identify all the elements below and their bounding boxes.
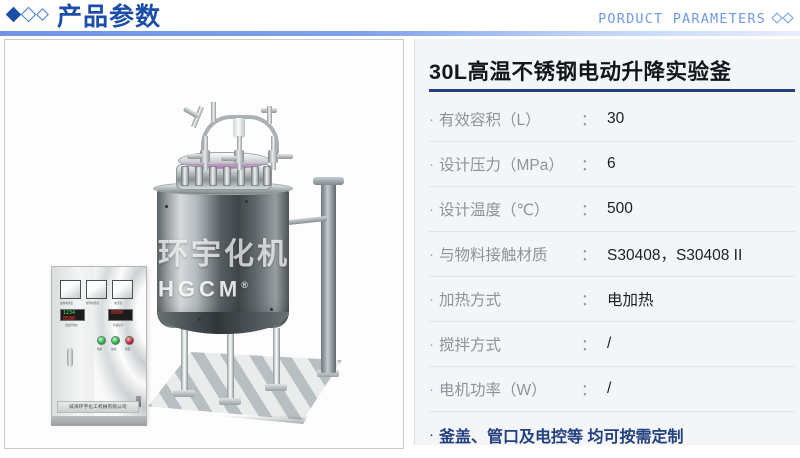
meter-label: 电压表 (114, 301, 122, 305)
spec-label: 电机功率（W） (439, 378, 581, 400)
flange-bolt (195, 166, 203, 186)
spec-value: 6 (607, 155, 795, 173)
customizable-note: 釜盖、管口及电控等 均可按需定制 (439, 423, 795, 447)
flange-bolt (251, 166, 259, 186)
valve-handle (183, 106, 199, 118)
spec-label: 与物料接触材质 (439, 243, 581, 265)
vessel-leg (227, 328, 234, 400)
spec-label: 设计温度（℃） (439, 198, 581, 220)
bullet-icon: · (429, 427, 439, 442)
bullet-icon: · (429, 157, 439, 172)
vessel-screw (165, 205, 168, 208)
vessel-leg (273, 328, 280, 386)
lamp-label: 报警 (125, 347, 130, 351)
page-title-english: PORDUCT PARAMETERS (598, 11, 766, 27)
spec-label: 加热方式 (439, 288, 581, 310)
diamond-outline-small-icon (36, 8, 49, 21)
spec-row: · 电机功率（W） ： / (429, 367, 795, 412)
flange-bolt (181, 166, 189, 186)
header-trailing-diamond-group (773, 14, 792, 22)
reactor-vessel (157, 188, 289, 328)
page-header: 产品参数 PORDUCT PARAMETERS (0, 0, 800, 34)
spec-colon: ： (581, 378, 607, 400)
lifting-column-flange (313, 177, 344, 185)
header-diamond-group (8, 9, 47, 20)
spec-value: 电加热 (607, 288, 795, 310)
meter-label: 加热电流表 (60, 301, 73, 305)
spec-row: · 搅拌方式 ： / (429, 322, 795, 367)
product-image-panel: 环宇化机 HGCM® 加热电流表 搅拌电流表 电压表 1234 0500 温度控… (4, 39, 404, 449)
spec-colon: ： (581, 108, 607, 130)
spec-row: · 设计压力（MPa） ： 6 (429, 142, 795, 187)
bullet-icon: · (429, 337, 439, 352)
spec-colon: ： (581, 333, 607, 355)
spec-row: · 有效容积（L） ： 30 (429, 97, 795, 142)
analog-meter (60, 280, 81, 299)
spec-row: · 加热方式 ： 电加热 (429, 277, 795, 322)
spec-colon: ： (581, 288, 607, 310)
display-value-bottom: 0500 (61, 316, 84, 322)
lifting-column (321, 183, 336, 373)
specification-panel: 30L高温不锈钢电动升降实验釜 · 有效容积（L） ： 30 · 设计压力（MP… (414, 39, 800, 445)
spec-value: / (607, 380, 795, 398)
diamond-outline-icon (771, 12, 782, 23)
valve-stem (267, 106, 272, 124)
page-title: 产品参数 (57, 2, 161, 32)
diamond-outline-icon (21, 7, 37, 23)
analog-meter (112, 280, 133, 299)
specification-list: · 有效容积（L） ： 30 · 设计压力（MPa） ： 6 · 设计温度（℃）… (429, 97, 795, 457)
product-name: 30L高温不锈钢电动升降实验釜 (429, 55, 732, 86)
meter-label: 搅拌电流表 (86, 301, 99, 305)
spec-label: 有效容积（L） (439, 108, 581, 130)
flange-bolt (209, 166, 217, 186)
header-divider (0, 31, 800, 36)
spec-colon: ： (581, 243, 607, 265)
spec-value: S30408，S30408 II (607, 243, 795, 265)
diamond-outline-icon (782, 12, 793, 23)
indicator-lamp (111, 336, 120, 345)
spec-value: 30 (607, 110, 795, 128)
vessel-screw (270, 308, 273, 311)
valve-handle (221, 156, 237, 161)
valve-handle (187, 154, 203, 159)
lamp-label: 加热 (111, 347, 116, 351)
vessel-leg (181, 328, 188, 392)
spec-row-customizable: · 釜盖、管口及电控等 均可按需定制 (429, 412, 795, 457)
top-cap (233, 118, 245, 138)
cabinet-nameplate-text: 威海环宇化工机械有限公司 (69, 404, 127, 410)
vessel-foot (173, 390, 195, 397)
cabinet-nameplate: 威海环宇化工机械有限公司 (57, 401, 139, 413)
spec-label: 设计压力（MPa） (439, 153, 581, 175)
vessel-screw (245, 200, 248, 203)
digital-display: 1234 0500 (60, 309, 85, 321)
diamond-solid-icon (6, 7, 22, 23)
vessel-foot (219, 398, 241, 405)
reactor-vessel-bottom (157, 312, 289, 334)
spec-label: 搅拌方式 (439, 333, 581, 355)
flange-bolt (223, 166, 231, 186)
lamp-label: 电源 (97, 347, 102, 351)
bullet-icon: · (429, 112, 439, 127)
flange-bolt (263, 166, 271, 186)
valve-stem (211, 102, 216, 122)
product-parameters-page: 产品参数 PORDUCT PARAMETERS (0, 0, 800, 458)
title-underline (429, 89, 795, 92)
spec-colon: ： (581, 198, 607, 220)
display-value-top: 0000 (109, 310, 132, 316)
spec-colon: ： (581, 153, 607, 175)
digital-display: 0000 (108, 309, 133, 321)
display-label: 转速显示 (113, 323, 123, 327)
spec-row: · 设计温度（℃） ： 500 (429, 187, 795, 232)
valve-handle (277, 154, 293, 159)
bullet-icon: · (429, 292, 439, 307)
vessel-screw (198, 318, 201, 321)
spec-value: / (607, 335, 795, 353)
indicator-lamp (97, 336, 106, 345)
spec-row: · 与物料接触材质 ： S30408，S30408 II (429, 232, 795, 277)
bullet-icon: · (429, 247, 439, 262)
bullet-icon: · (429, 382, 439, 397)
cabinet-door-handle (67, 348, 73, 367)
vessel-foot (265, 384, 287, 391)
display-label: 温度控制仪 (65, 323, 78, 327)
spec-value: 500 (607, 200, 795, 218)
bullet-icon: · (429, 202, 439, 217)
indicator-lamp (125, 336, 134, 345)
cabinet-base (51, 416, 147, 426)
product-photo: 环宇化机 HGCM® 加热电流表 搅拌电流表 电压表 1234 0500 温度控… (5, 40, 403, 448)
analog-meter (86, 280, 107, 299)
base-plate-shadow (148, 352, 342, 424)
